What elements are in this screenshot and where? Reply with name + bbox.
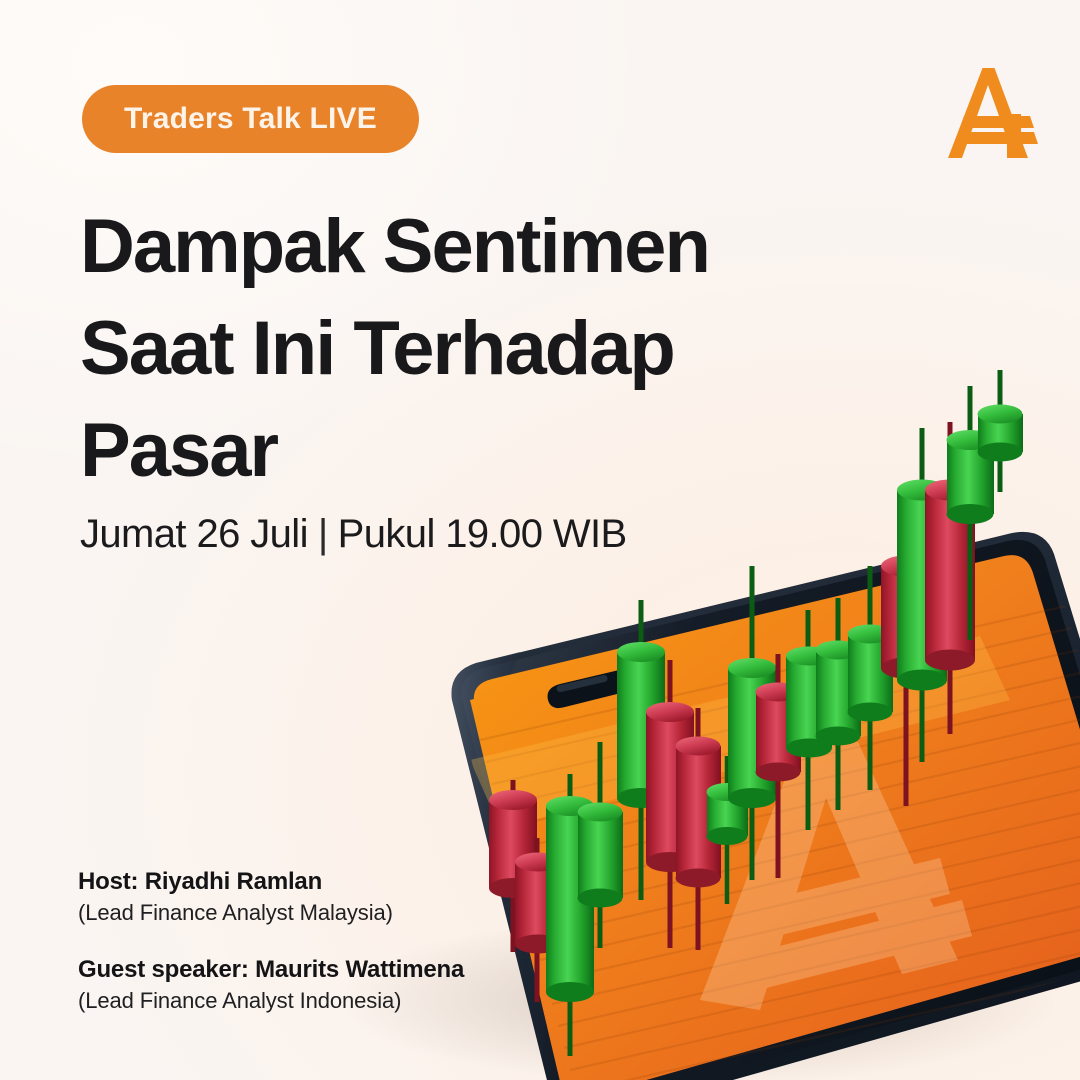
schedule-separator: | xyxy=(318,512,328,557)
octa-a-logo-icon xyxy=(938,62,1042,166)
credit-host-role: (Lead Finance Analyst Malaysia) xyxy=(78,898,638,928)
schedule-line: Jumat 26 Juli|Pukul 19.00 WIB xyxy=(80,512,627,557)
poster-canvas: Traders Talk LIVE Dampak Sentimen Saat I… xyxy=(0,0,1080,1080)
headline-line-3: Pasar xyxy=(80,400,800,502)
credits: Host: Riyadhi Ramlan (Lead Finance Analy… xyxy=(78,866,638,1016)
credit-guest-name: Guest speaker: Maurits Wattimena xyxy=(78,954,638,986)
headline-line-1: Dampak Sentimen xyxy=(80,196,800,298)
credit-host: Host: Riyadhi Ramlan (Lead Finance Analy… xyxy=(78,866,638,928)
headline-line-2: Saat Ini Terhadap xyxy=(80,298,800,400)
credit-guest-role: (Lead Finance Analyst Indonesia) xyxy=(78,986,638,1016)
schedule-date: Jumat 26 Juli xyxy=(80,512,308,556)
live-badge[interactable]: Traders Talk LIVE xyxy=(82,85,419,153)
live-badge-label: Traders Talk LIVE xyxy=(124,102,377,136)
credit-guest: Guest speaker: Maurits Wattimena (Lead F… xyxy=(78,954,638,1016)
credit-host-name: Host: Riyadhi Ramlan xyxy=(78,866,638,898)
schedule-time: Pukul 19.00 WIB xyxy=(338,512,627,556)
page-title: Dampak Sentimen Saat Ini Terhadap Pasar xyxy=(80,196,800,502)
